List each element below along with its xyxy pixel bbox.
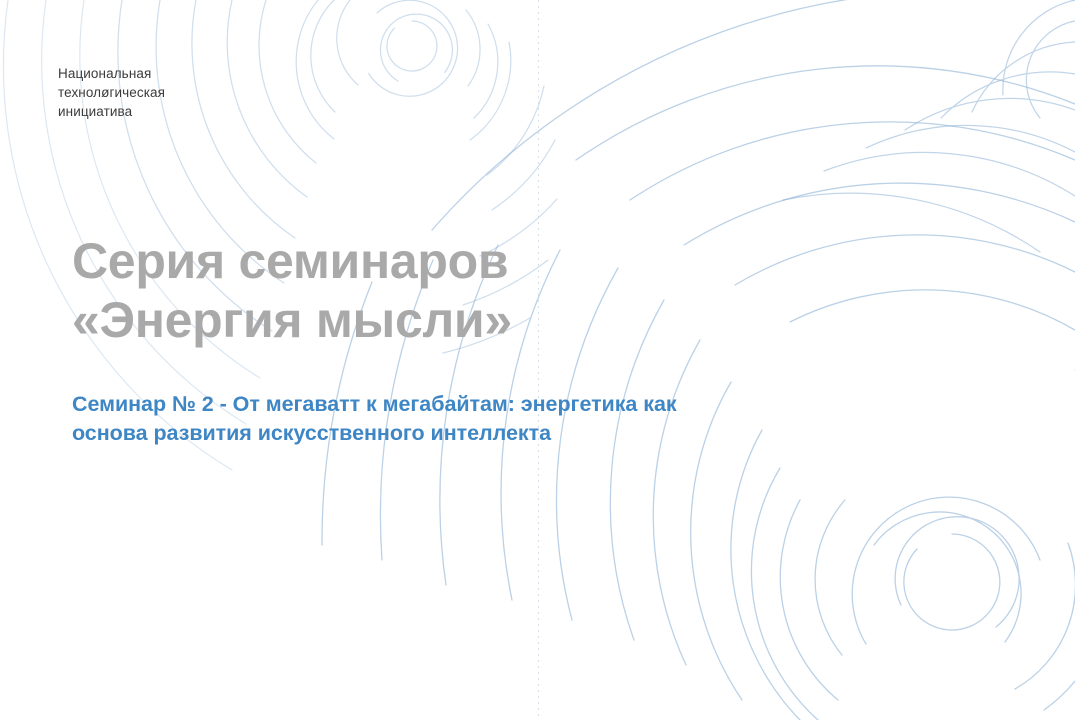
subtitle-line-1: Семинар № 2 - От мегаватт к мегабайтам: … [72, 390, 862, 419]
title-line-1: Серия семинаров [72, 232, 852, 291]
page-subtitle: Семинар № 2 - От мегаватт к мегабайтам: … [72, 390, 862, 448]
presentation-slide: Национальная технолøгическая инициатива … [0, 0, 1075, 720]
slide-content: Национальная технолøгическая инициатива … [0, 0, 1075, 720]
subtitle-line-2: основа развития искусственного интеллект… [72, 419, 862, 448]
page-title: Серия семинаров «Энергия мысли» [72, 232, 852, 350]
nti-logo: Национальная технолøгическая инициатива [58, 64, 165, 121]
title-line-2: «Энергия мысли» [72, 291, 852, 350]
